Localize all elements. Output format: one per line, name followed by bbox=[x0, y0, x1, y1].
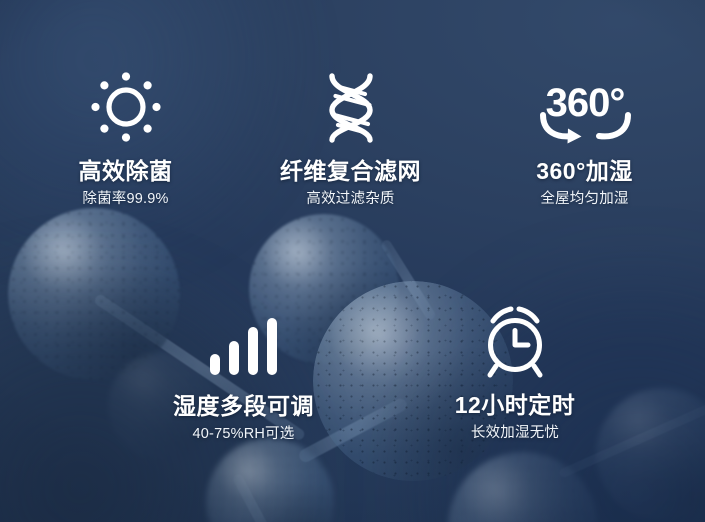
svg-text:360°: 360° bbox=[545, 81, 624, 125]
feature-title: 12小时定时 bbox=[455, 392, 576, 418]
promo-banner: 高效除菌 除菌率99.9% 纤维复合滤网 高效过滤杂质 360° bbox=[0, 0, 705, 522]
rotation-360-icon: 360° bbox=[531, 66, 639, 144]
feature-title: 360°加湿 bbox=[536, 158, 633, 184]
signal-bars-icon bbox=[208, 311, 280, 377]
feature-subtitle: 40-75%RH可选 bbox=[193, 426, 295, 443]
feature-item-timer: 12小时定时 长效加湿无忧 bbox=[400, 306, 630, 443]
feature-item-humidify-360: 360° 360°加湿 全屋均匀加湿 bbox=[478, 66, 691, 209]
feature-item-humidity-levels: 湿度多段可调 40-75%RH可选 bbox=[131, 311, 356, 444]
feature-subtitle: 除菌率99.9% bbox=[82, 191, 168, 208]
feature-item-sterilization: 高效除菌 除菌率99.9% bbox=[18, 66, 233, 209]
feature-item-filter: 纤维复合滤网 高效过滤杂质 bbox=[243, 66, 458, 209]
feature-subtitle: 全屋均匀加湿 bbox=[540, 191, 628, 208]
feature-subtitle: 高效过滤杂质 bbox=[306, 191, 394, 208]
feature-title: 湿度多段可调 bbox=[173, 393, 314, 419]
feature-title: 纤维复合滤网 bbox=[280, 158, 421, 184]
feature-subtitle: 长效加湿无忧 bbox=[471, 425, 559, 442]
dna-helix-icon bbox=[315, 66, 387, 144]
alarm-clock-icon bbox=[480, 306, 550, 378]
sun-icon bbox=[89, 66, 163, 144]
feature-title: 高效除菌 bbox=[79, 158, 173, 184]
